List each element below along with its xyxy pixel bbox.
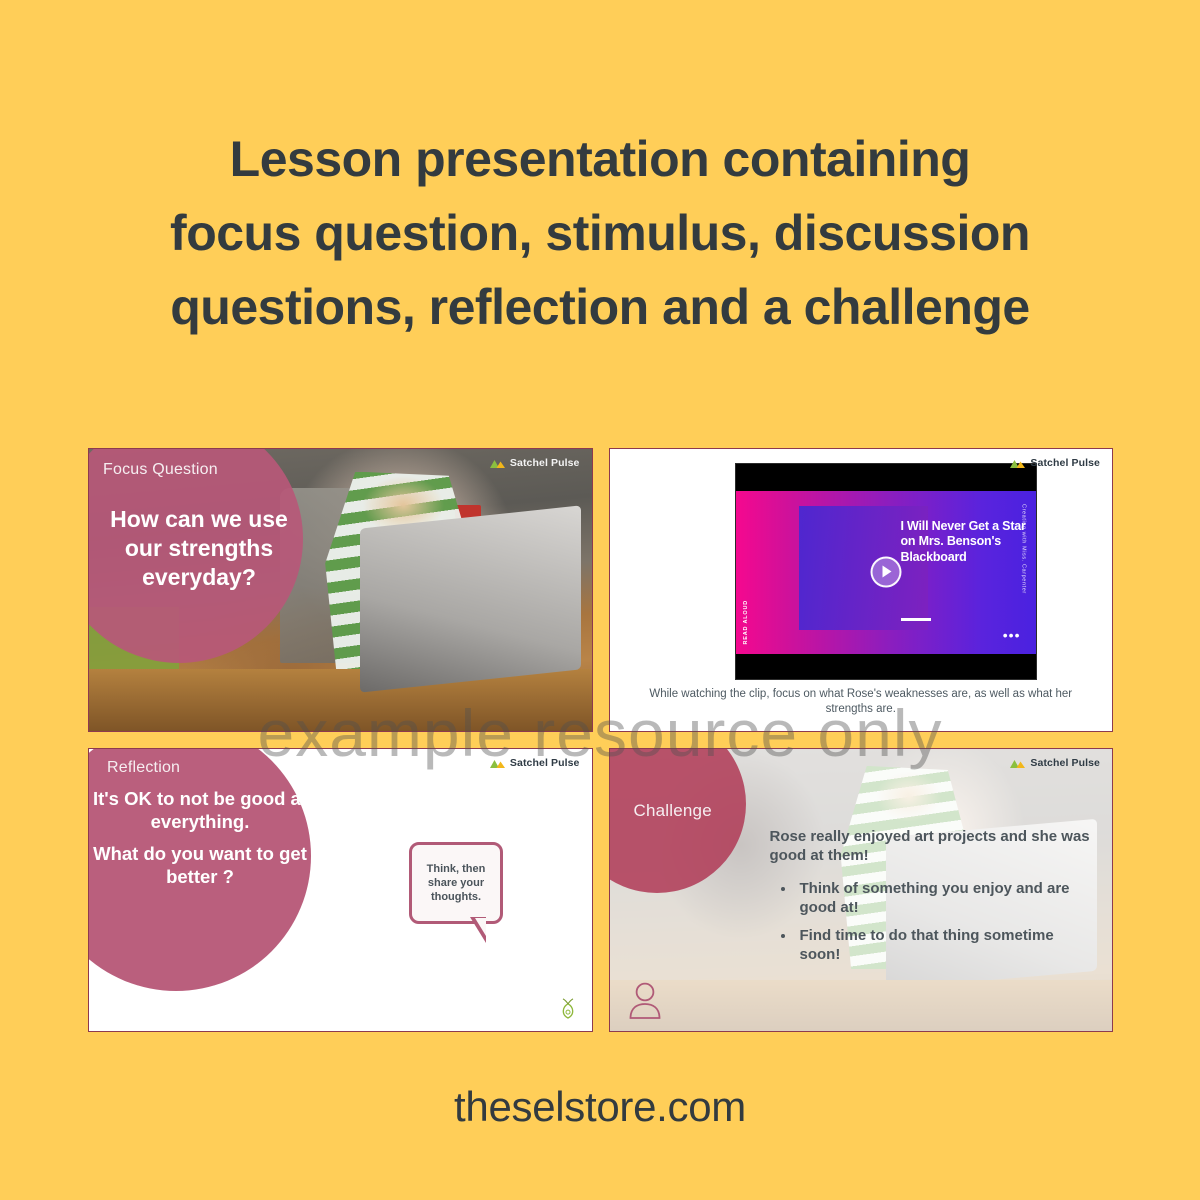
challenge-bullet: Find time to do that thing sometime soon…: [796, 926, 1099, 964]
mountain-icon: [1009, 458, 1026, 469]
reflection-statement: It's OK to not be good at everything.: [93, 788, 307, 832]
challenge-body: Rose really enjoyed art projects and she…: [770, 827, 1099, 973]
speech-bubble: Think, then share your thoughts.: [409, 842, 503, 924]
play-icon[interactable]: [870, 556, 901, 587]
mountain-icon: [489, 458, 506, 469]
mountain-icon: [489, 758, 506, 769]
logo-text: Satchel Pulse: [1030, 457, 1100, 469]
photo-child: [325, 472, 476, 681]
challenge-bullet: Think of something you enjoy and are goo…: [796, 879, 1099, 917]
speech-bubble-text: Think, then share your thoughts.: [412, 845, 500, 921]
video-title: I Will Never Get a Star on Mrs. Benson's…: [901, 519, 1027, 566]
satchel-pulse-logo: Satchel Pulse: [489, 757, 580, 769]
logo-text: Satchel Pulse: [510, 757, 580, 769]
video-channel-name: Creating with Miss. Carpenter: [1021, 504, 1027, 594]
slide-kicker-challenge: Challenge: [634, 801, 712, 821]
slide-kicker-reflection: Reflection: [107, 759, 180, 777]
page-title: Lesson presentation containing focus que…: [0, 122, 1200, 344]
video-badge-read-aloud: READ ALOUD: [743, 600, 749, 644]
video-player[interactable]: I Will Never Get a Star on Mrs. Benson's…: [735, 463, 1037, 680]
slide-reflection[interactable]: Satchel Pulse Reflection It's OK to not …: [88, 748, 593, 1032]
page-title-line-1: Lesson presentation containing: [0, 122, 1200, 196]
satchel-pulse-logo: Satchel Pulse: [1009, 757, 1100, 769]
satchel-pulse-logo: Satchel Pulse: [1009, 457, 1100, 469]
focus-question-text: How can we use our strengths everyday?: [99, 505, 299, 592]
reflection-text: It's OK to not be good at everything. Wh…: [88, 787, 317, 888]
slide-kicker-focus-question: Focus Question: [103, 461, 218, 479]
slide-focus-question[interactable]: Focus Question How can we use our streng…: [88, 448, 593, 732]
page-title-line-2: focus question, stimulus, discussion: [0, 196, 1200, 270]
challenge-intro: Rose really enjoyed art projects and she…: [770, 827, 1099, 865]
footer-url: theselstore.com: [0, 1083, 1200, 1131]
video-overflow-icon[interactable]: •••: [1003, 632, 1021, 638]
reflection-prompt: What do you want to get better ?: [88, 842, 317, 888]
challenge-bullet-list: Think of something you enjoy and are goo…: [770, 879, 1099, 964]
seedling-icon: [558, 995, 578, 1021]
logo-text: Satchel Pulse: [510, 457, 580, 469]
speech-bubble-tail: [470, 917, 486, 943]
page-title-line-3: questions, reflection and a challenge: [0, 270, 1200, 344]
person-icon: [628, 981, 662, 1019]
slide-challenge[interactable]: Satchel Pulse Challenge Rose really enjo…: [609, 748, 1114, 1032]
photo-desk: [89, 669, 592, 731]
slide-deck: Focus Question How can we use our streng…: [88, 448, 1113, 1032]
mountain-icon: [1009, 758, 1026, 769]
logo-text: Satchel Pulse: [1030, 757, 1100, 769]
stimulus-caption: While watching the clip, focus on what R…: [640, 687, 1083, 717]
slide-stimulus[interactable]: Satchel Pulse I Will Never Get a Star on…: [609, 448, 1114, 732]
satchel-pulse-logo: Satchel Pulse: [489, 457, 580, 469]
video-title-underline: [901, 618, 931, 621]
